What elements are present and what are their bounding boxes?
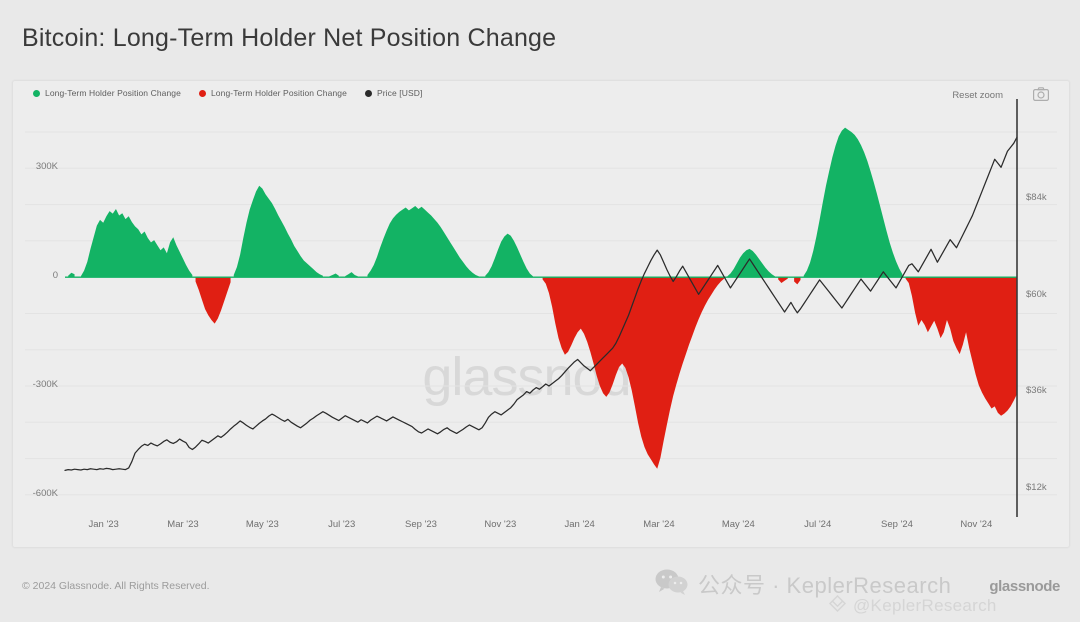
x-axis-tick-label: Jan '24 — [564, 519, 594, 530]
chart-page: Bitcoin: Long-Term Holder Net Position C… — [0, 0, 1080, 622]
wechat-icon — [655, 569, 689, 600]
y2-axis-tick-label: $60k — [1026, 289, 1047, 300]
x-axis-tick-label: Nov '23 — [484, 519, 516, 530]
copyright-text: © 2024 Glassnode. All Rights Reserved. — [22, 580, 210, 592]
y-axis-tick-label: -300K — [18, 379, 58, 390]
area-series-positive — [68, 128, 902, 277]
x-axis-tick-label: May '23 — [246, 519, 279, 530]
diamond-icon — [828, 594, 847, 618]
y-axis-tick-label: 0 — [18, 270, 58, 281]
y-axis-tick-label: -600K — [18, 488, 58, 499]
chart-plot-area — [13, 81, 1069, 547]
y-axis-tick-label: 300K — [18, 161, 58, 172]
x-axis-tick-label: Sep '23 — [405, 519, 437, 530]
y2-axis-tick-label: $36k — [1026, 385, 1047, 396]
x-axis-tick-label: Jul '24 — [804, 519, 831, 530]
glassnode-logo: glassnode — [989, 578, 1060, 595]
x-axis-tick-label: Jul '23 — [328, 519, 355, 530]
wechat-watermark-text: 公众号 · KeplerResearch — [698, 568, 951, 600]
chart-gridlines — [25, 132, 1057, 495]
wechat-watermark: 公众号 · KeplerResearch — [655, 568, 951, 600]
chart-card: Long-Term Holder Position Change Long-Te… — [12, 80, 1070, 548]
kepler-overlay-watermark: @KeplerResearch — [828, 594, 997, 618]
chart-svg — [13, 81, 1069, 547]
x-axis-tick-label: Mar '23 — [167, 519, 198, 530]
x-axis-tick-label: Mar '24 — [643, 519, 674, 530]
x-axis-tick-label: May '24 — [722, 519, 755, 530]
y2-axis-tick-label: $12k — [1026, 482, 1047, 493]
x-axis-tick-label: Jan '23 — [88, 519, 118, 530]
page-title: Bitcoin: Long-Term Holder Net Position C… — [22, 24, 556, 53]
area-series-negative — [65, 277, 1017, 469]
x-axis-tick-label: Nov '24 — [960, 519, 992, 530]
y2-axis-tick-label: $84k — [1026, 192, 1047, 203]
kepler-overlay-text: @KeplerResearch — [853, 596, 997, 616]
x-axis-tick-label: Sep '24 — [881, 519, 913, 530]
